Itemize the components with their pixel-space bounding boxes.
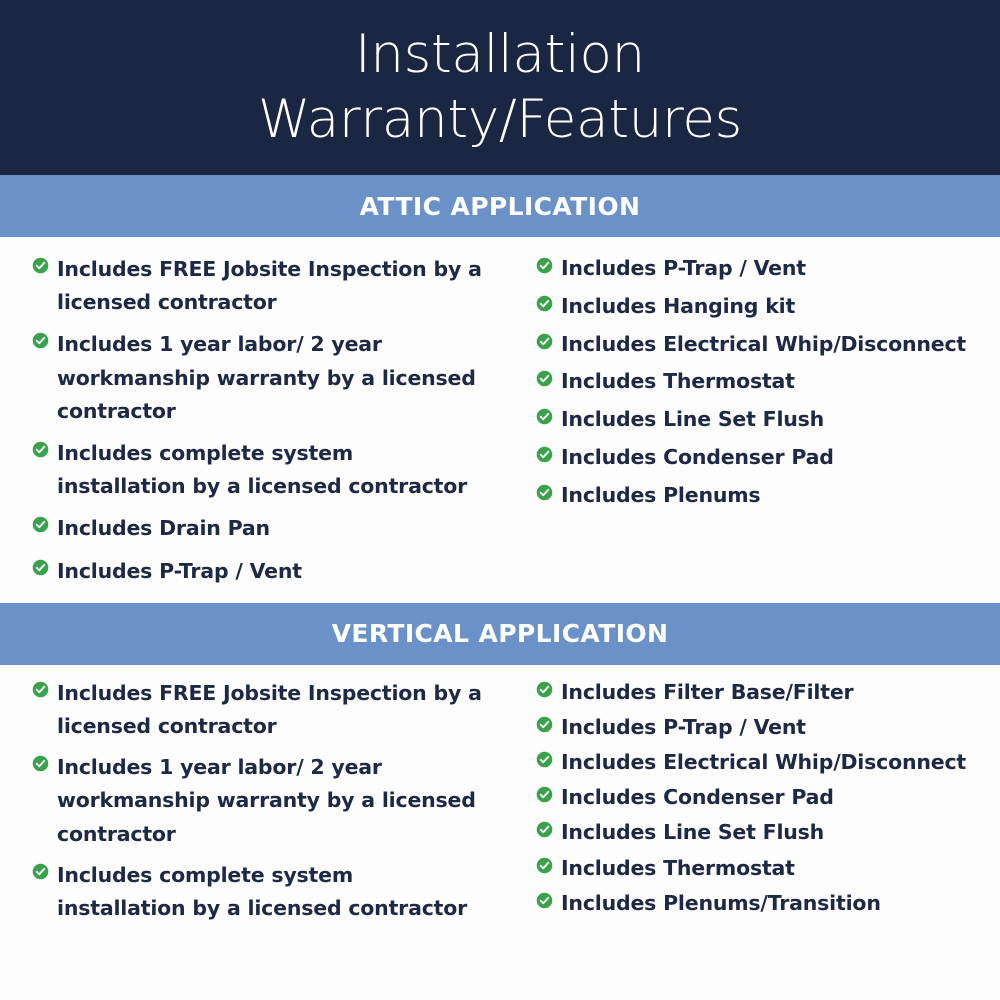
check-circle-icon	[536, 821, 553, 838]
list-item: Includes P-Trap / Vent	[536, 712, 986, 743]
check-circle-icon	[536, 446, 553, 463]
list-item-label: Includes Thermostat	[561, 853, 795, 884]
list-item-label: Includes Hanging kit	[561, 291, 795, 323]
list-item-label: Includes Plenums	[561, 480, 760, 512]
section-body-vertical: Includes FREE Jobsite Inspection by a li…	[0, 665, 1000, 943]
feature-column-attic-left: Includes FREE Jobsite Inspection by a li…	[0, 253, 500, 597]
list-item-label: Includes complete system installation by…	[57, 859, 486, 925]
check-circle-icon	[536, 484, 553, 501]
list-item: Includes complete system installation by…	[32, 859, 486, 925]
list-item: Includes Thermostat	[536, 853, 986, 884]
list-item: Includes Condenser Pad	[536, 782, 986, 813]
list-item-label: Includes Filter Base/Filter	[561, 677, 853, 708]
check-circle-icon	[32, 755, 49, 772]
check-circle-icon	[32, 257, 49, 274]
feature-column-attic-right: Includes P-Trap / Vent Includes Hanging …	[500, 253, 1000, 597]
list-item: Includes Plenums/Transition	[536, 888, 986, 919]
list-item: Includes 1 year labor/ 2 year workmanshi…	[32, 751, 486, 851]
list-item: Includes Drain Pan	[32, 512, 486, 545]
list-item: Includes Plenums	[536, 480, 986, 512]
section-banner-vertical: VERTICAL APPLICATION	[0, 603, 1000, 665]
list-item-label: Includes FREE Jobsite Inspection by a li…	[57, 677, 486, 743]
section-body-attic: Includes FREE Jobsite Inspection by a li…	[0, 237, 1000, 603]
list-item-label: Includes Electrical Whip/Disconnect	[561, 747, 966, 778]
list-item: Includes Electrical Whip/Disconnect	[536, 747, 986, 778]
list-item: Includes Hanging kit	[536, 291, 986, 323]
list-item-label: Includes P-Trap / Vent	[561, 712, 806, 743]
list-item-label: Includes Line Set Flush	[561, 817, 824, 848]
page-header: Installation Warranty/Features	[0, 0, 1000, 175]
list-item-label: Includes P-Trap / Vent	[561, 253, 806, 285]
list-item-label: Includes Condenser Pad	[561, 782, 834, 813]
check-circle-icon	[32, 681, 49, 698]
check-circle-icon	[536, 333, 553, 350]
list-item-label: Includes 1 year labor/ 2 year workmanshi…	[57, 751, 486, 851]
check-circle-icon	[536, 257, 553, 274]
list-item-label: Includes FREE Jobsite Inspection by a li…	[57, 253, 486, 319]
page-title: Installation Warranty/Features	[258, 23, 742, 152]
check-circle-icon	[536, 786, 553, 803]
list-item-label: Includes Condenser Pad	[561, 442, 834, 474]
check-circle-icon	[536, 716, 553, 733]
section-banner-label-vertical: VERTICAL APPLICATION	[332, 619, 669, 648]
list-item: Includes Electrical Whip/Disconnect	[536, 329, 986, 361]
list-item: Includes FREE Jobsite Inspection by a li…	[32, 677, 486, 743]
check-circle-icon	[536, 681, 553, 698]
list-item: Includes P-Trap / Vent	[536, 253, 986, 285]
list-item: Includes Condenser Pad	[536, 442, 986, 474]
list-item: Includes Line Set Flush	[536, 817, 986, 848]
list-item-label: Includes Thermostat	[561, 366, 795, 398]
list-item-label: Includes Plenums/Transition	[561, 888, 881, 919]
check-circle-icon	[32, 863, 49, 880]
list-item-label: Includes P-Trap / Vent	[57, 555, 302, 588]
check-circle-icon	[536, 408, 553, 425]
list-item-label: Includes Drain Pan	[57, 512, 270, 545]
feature-column-vertical-left: Includes FREE Jobsite Inspection by a li…	[0, 677, 500, 933]
list-item-label: Includes complete system installation by…	[57, 437, 486, 503]
list-item: Includes FREE Jobsite Inspection by a li…	[32, 253, 486, 319]
check-circle-icon	[536, 751, 553, 768]
list-item: Includes complete system installation by…	[32, 437, 486, 503]
check-circle-icon	[536, 370, 553, 387]
check-circle-icon	[536, 857, 553, 874]
check-circle-icon	[536, 892, 553, 909]
section-banner-attic: ATTIC APPLICATION	[0, 175, 1000, 237]
list-item-label: Includes Electrical Whip/Disconnect	[561, 329, 966, 361]
list-item-label: Includes Line Set Flush	[561, 404, 824, 436]
section-banner-label-attic: ATTIC APPLICATION	[360, 192, 641, 221]
list-item-label: Includes 1 year labor/ 2 year workmanshi…	[57, 328, 486, 428]
list-item: Includes Thermostat	[536, 366, 986, 398]
check-circle-icon	[32, 332, 49, 349]
feature-column-vertical-right: Includes Filter Base/Filter Includes P-T…	[500, 677, 1000, 933]
installation-warranty-features-page: Installation Warranty/Features ATTIC APP…	[0, 0, 1000, 1000]
check-circle-icon	[536, 295, 553, 312]
list-item: Includes Line Set Flush	[536, 404, 986, 436]
check-circle-icon	[32, 559, 49, 576]
list-item: Includes Filter Base/Filter	[536, 677, 986, 708]
list-item: Includes 1 year labor/ 2 year workmanshi…	[32, 328, 486, 428]
check-circle-icon	[32, 516, 49, 533]
check-circle-icon	[32, 441, 49, 458]
list-item: Includes P-Trap / Vent	[32, 555, 486, 588]
